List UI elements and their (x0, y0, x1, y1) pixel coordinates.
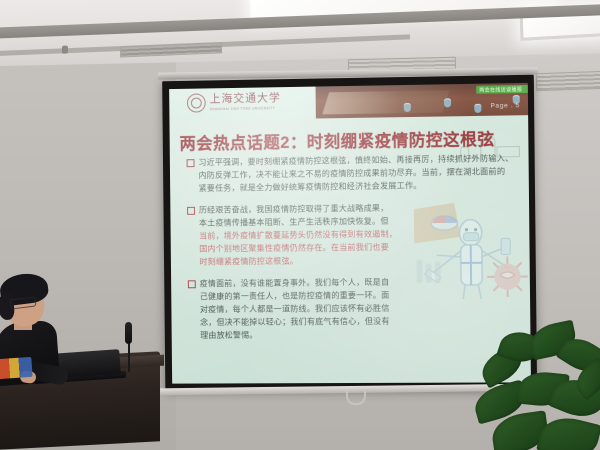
bubble-icon-1 (404, 103, 411, 112)
university-seal-icon (187, 93, 206, 112)
slide-header-band: 两会在线访谈播报 热点专题直播 Page . 5 上海交通大学 (169, 83, 528, 121)
sprinkler-head-icon (62, 46, 68, 54)
bubble-icon-2 (444, 98, 451, 107)
bullet-block-1: 习近平强调，要时刻绷紧疫情防控这根弦，慎终如始、再接再厉，持续抓好外防输入、 内… (186, 152, 519, 196)
header-taskbar-green-label: 两会在线访谈播报 (479, 85, 522, 93)
gooseneck-microphone (125, 322, 132, 344)
conference-room-scene: 两会在线访谈播报 热点专题直播 Page . 5 上海交通大学 (0, 0, 600, 450)
bullet-3-line-5: 理由放松警惕。 (200, 327, 520, 342)
square-bullet-icon (187, 206, 195, 214)
university-name-en: SHANGHAI JIAO TONG UNIVERSITY (210, 106, 281, 111)
university-logo: 上海交通大学 SHANGHAI JIAO TONG UNIVERSITY (187, 92, 281, 112)
square-bullet-icon (188, 280, 196, 288)
slide-page-number: Page . 5 (490, 102, 519, 110)
potted-green-plant (474, 318, 600, 450)
air-vent-3 (536, 71, 600, 92)
presenter-at-podium (0, 264, 66, 384)
bullet-1-line-3: 紧要任务，就是全力做好统筹疫情防控和经济社会发展工作。 (199, 178, 519, 195)
header-photo-banner: 两会在线访谈播报 热点专题直播 Page . 5 (316, 83, 529, 119)
university-name-cn: 上海交通大学 (210, 93, 281, 105)
colored-badge (0, 357, 33, 379)
medical-worker-vs-virus-illustration (414, 202, 528, 304)
square-bullet-icon (187, 159, 195, 167)
bubble-icon-3 (474, 104, 481, 113)
slide-title: 两会热点话题2：时刻绷紧疫情防控这根弦 (179, 126, 494, 155)
